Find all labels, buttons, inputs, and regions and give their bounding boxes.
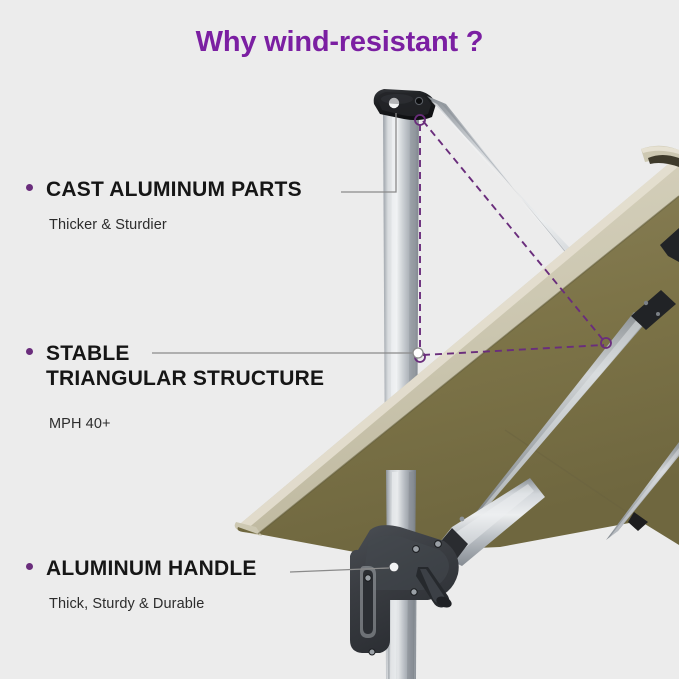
callout-3-headline: ALUMINUM HANDLE bbox=[46, 557, 257, 582]
callout-1-head: CAST ALUMINUM PARTS bbox=[26, 178, 302, 203]
bracket-bolt bbox=[415, 97, 422, 104]
callout-1-subtitle: Thicker & Sturdier bbox=[49, 217, 302, 233]
page-title: Why wind-resistant ? bbox=[0, 26, 679, 59]
bullet-dot-icon bbox=[26, 563, 33, 570]
leader-endpoint-markers bbox=[413, 348, 423, 358]
callout-2-head: STABLE TRIANGULAR STRUCTURE bbox=[26, 342, 324, 392]
bullet-dot-icon bbox=[26, 348, 33, 355]
callout-2-headline: STABLE TRIANGULAR STRUCTURE bbox=[46, 342, 324, 392]
callout-cast-aluminum-parts: CAST ALUMINUM PARTS Thicker & Sturdier bbox=[26, 178, 302, 233]
canopy-finial bbox=[641, 146, 679, 167]
callout-3-subtitle: Thick, Sturdy & Durable bbox=[49, 596, 257, 612]
callout-stable-triangular-structure: STABLE TRIANGULAR STRUCTURE MPH 40+ bbox=[26, 342, 324, 432]
callout-2-subtitle: MPH 40+ bbox=[49, 416, 324, 432]
infographic-canvas: Why wind-resistant ? CAST ALUMINUM PARTS… bbox=[0, 0, 679, 679]
callout-3-head: ALUMINUM HANDLE bbox=[26, 557, 257, 582]
callout-aluminum-handle: ALUMINUM HANDLE Thick, Sturdy & Durable bbox=[26, 557, 257, 612]
bullet-dot-icon bbox=[26, 184, 33, 191]
handle-anchor-point bbox=[390, 563, 399, 572]
callout-1-headline: CAST ALUMINUM PARTS bbox=[46, 178, 302, 203]
endpoint-marker-triangular-structure bbox=[413, 348, 423, 358]
